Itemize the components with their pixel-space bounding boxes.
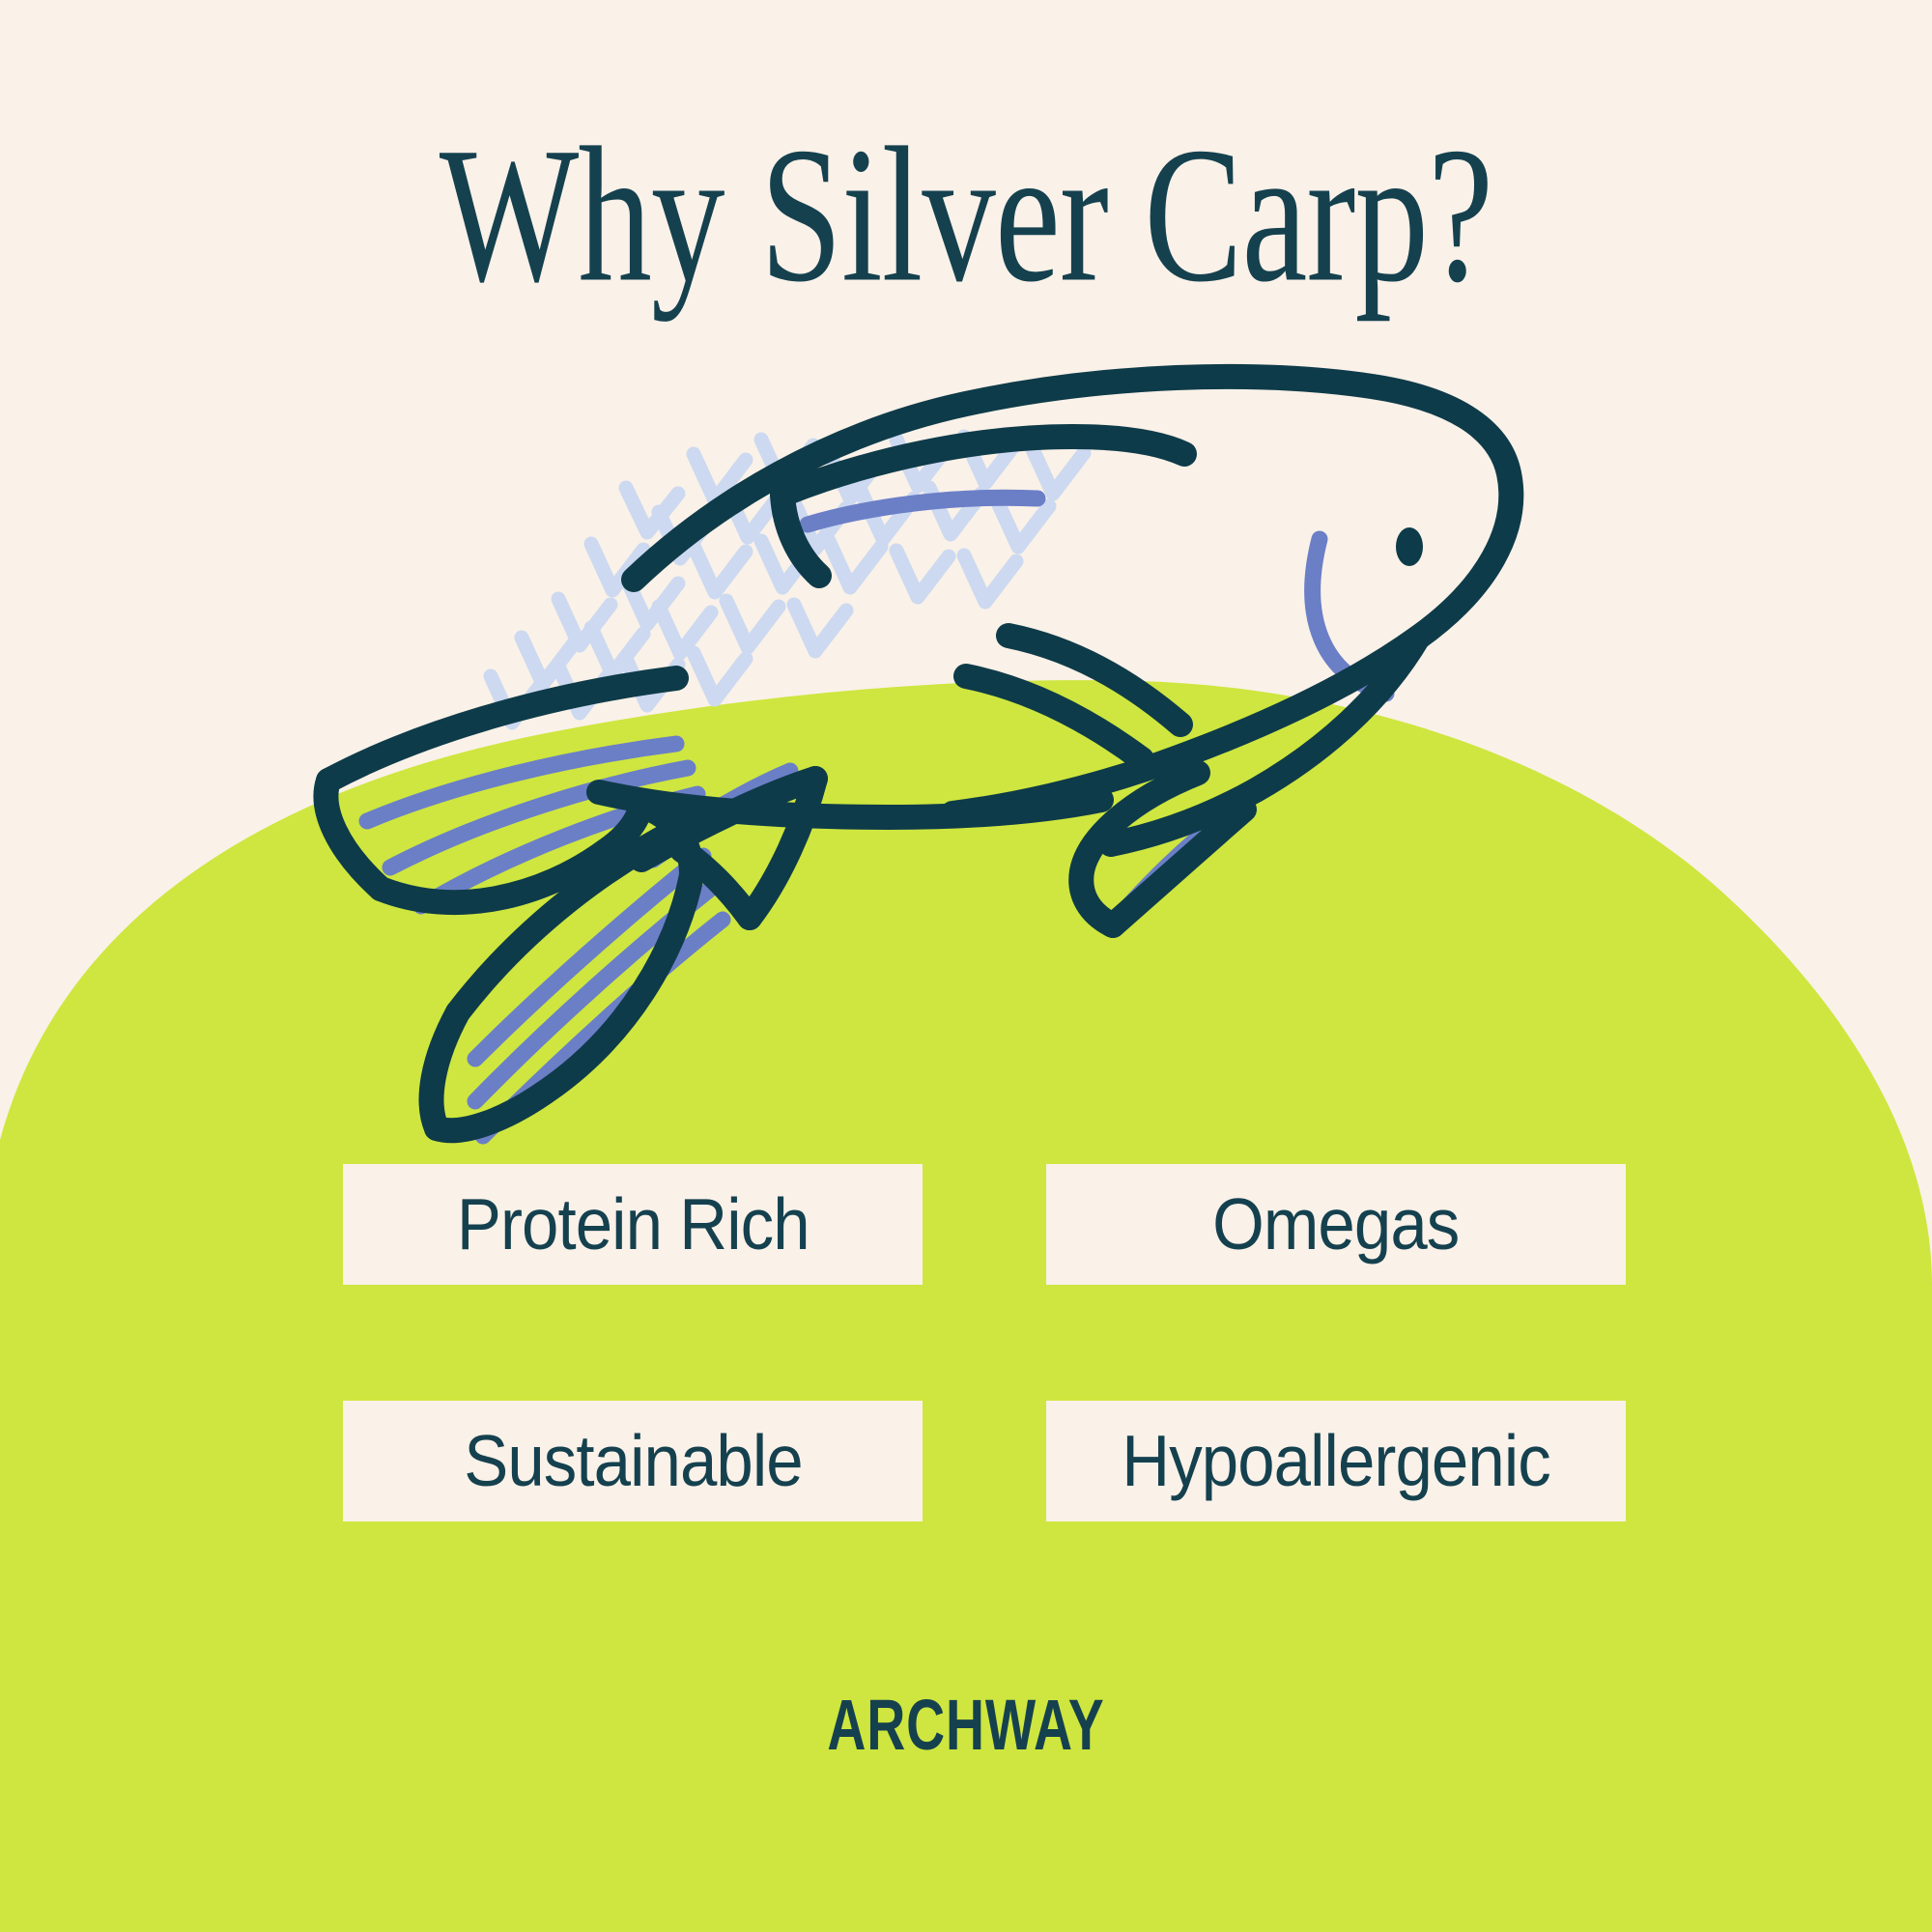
feature-label: Hypoallergenic — [1122, 1425, 1550, 1497]
feature-box-omegas[interactable]: Omegas — [1046, 1164, 1626, 1285]
feature-box-hypoallergenic[interactable]: Hypoallergenic — [1046, 1401, 1626, 1521]
feature-label: Sustainable — [464, 1425, 802, 1497]
feature-label: Omegas — [1212, 1188, 1459, 1261]
brand-logo[interactable]: ARCHWAY — [0, 1692, 1932, 1756]
feature-box-protein-rich[interactable]: Protein Rich — [343, 1164, 923, 1285]
brand-name: ARCHWAY — [827, 1689, 1104, 1760]
feature-label: Protein Rich — [457, 1188, 810, 1261]
poster-canvas: Why Silver Carp? — [0, 0, 1932, 1932]
page-title: Why Silver Carp? — [97, 118, 1835, 312]
feature-grid: Protein Rich Omegas Sustainable Hypoalle… — [343, 1164, 1589, 1521]
feature-box-sustainable[interactable]: Sustainable — [343, 1401, 923, 1521]
